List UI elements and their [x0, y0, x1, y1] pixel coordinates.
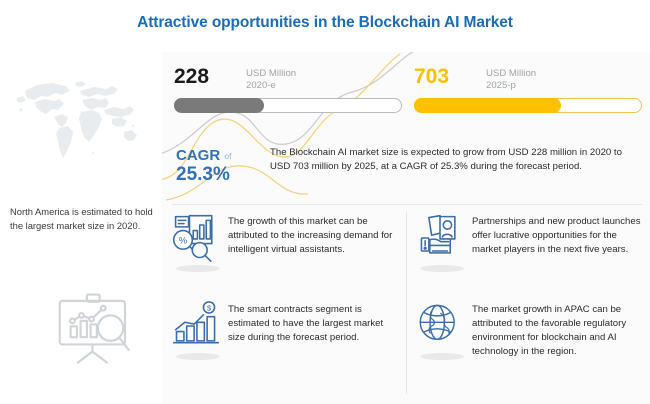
horizontal-divider [172, 204, 642, 205]
cagr-box: CAGR of 25.3% [162, 144, 270, 206]
insight-card-3-text: The smart contracts segment is estimated… [228, 300, 402, 362]
stat-unit-2025: USD Million 2025-p [486, 66, 536, 91]
stat-2020: 228 USD Million 2020-e [174, 52, 402, 113]
cagr-label: CAGR [176, 147, 220, 164]
cagr-label-line: CAGR of [176, 148, 270, 164]
cagr-row: CAGR of 25.3% The Blockchain AI market s… [162, 144, 650, 206]
icon-shadow [176, 353, 220, 360]
insight-card-4: The market growth in APAC can be attribu… [414, 300, 646, 362]
progress-bar-2025 [414, 98, 642, 113]
bar-chart-dollar-growth-icon: $ [170, 300, 228, 362]
stat-unit-line1: USD Million [246, 68, 296, 80]
insight-card-1: % The growth of this market can be attri… [170, 212, 402, 274]
cagr-of-text: of [224, 151, 231, 161]
stat-unit-line2: 2020-e [246, 80, 296, 92]
icon-shadow [420, 265, 464, 272]
progress-bar-2025-fill [414, 98, 561, 113]
sidebar-note: North America is estimated to hold the l… [10, 205, 160, 232]
stat-2025: 703 USD Million 2025-p [414, 52, 642, 113]
stats-row: 228 USD Million 2020-e 703 USD Million 2… [162, 52, 650, 136]
market-description: The Blockchain AI market size is expecte… [270, 144, 650, 206]
handshake-product-launch-icon [414, 212, 472, 274]
svg-text:%: % [179, 236, 187, 246]
svg-text:$: $ [207, 304, 211, 313]
globe-icon [414, 300, 472, 362]
insight-card-4-text: The market growth in APAC can be attribu… [472, 300, 646, 362]
cagr-value: 25.3% [176, 164, 270, 185]
stat-unit-line2: 2025-p [486, 80, 536, 92]
progress-bar-2020 [174, 98, 402, 113]
insight-card-2: Partnerships and new product launches of… [414, 212, 646, 274]
main-panel: 228 USD Million 2020-e 703 USD Million 2… [162, 52, 650, 404]
stat-value-2025: 703 [414, 66, 486, 88]
insight-card-1-text: The growth of this market can be attribu… [228, 212, 402, 274]
infographic-root: Attractive opportunities in the Blockcha… [0, 0, 650, 404]
stat-unit-2020: USD Million 2020-e [246, 66, 296, 91]
stat-value-2020: 228 [174, 66, 246, 88]
insight-card-2-text: Partnerships and new product launches of… [472, 212, 646, 274]
vertical-divider [406, 212, 407, 394]
progress-bar-2020-fill [174, 98, 264, 113]
document-bar-chart-magnifier-icon: % [170, 212, 228, 274]
insight-card-3: $ The smart contracts segment is estimat… [170, 300, 402, 362]
icon-shadow [420, 353, 464, 360]
icon-shadow [176, 265, 220, 272]
presentation-chart-magnifier-icon [50, 290, 142, 368]
page-title: Attractive opportunities in the Blockcha… [0, 14, 650, 32]
stat-unit-line1: USD Million [486, 68, 536, 80]
world-map-icon [6, 62, 146, 172]
